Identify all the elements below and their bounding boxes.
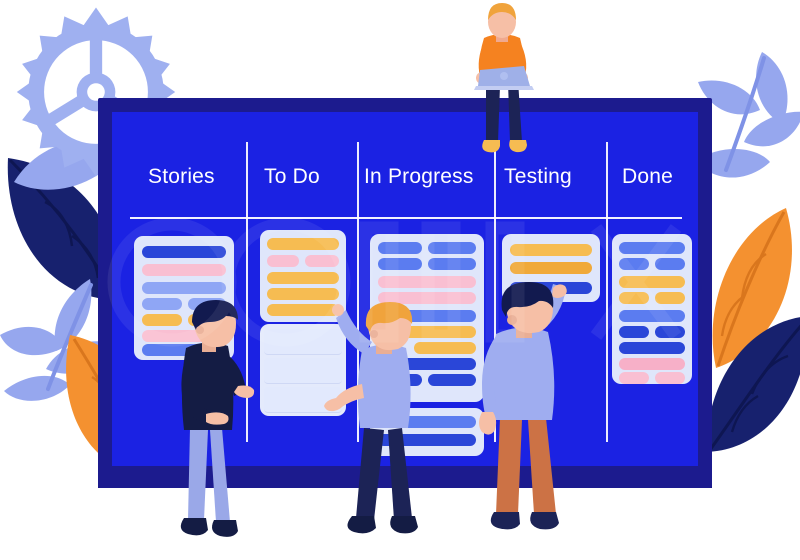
card-bar xyxy=(619,342,685,354)
column-header-testing[interactable]: Testing xyxy=(504,154,572,200)
card-bar xyxy=(655,372,685,384)
card-bar xyxy=(619,242,685,254)
board-column-headers: Stories To Do In Progress Testing Done xyxy=(112,154,698,212)
card-bar xyxy=(619,372,649,384)
card-bar xyxy=(142,264,226,276)
card-bar xyxy=(142,282,226,294)
card-bar xyxy=(267,288,339,300)
card-bar xyxy=(510,244,592,256)
column-divider-4 xyxy=(606,142,608,442)
card-bar xyxy=(378,258,422,270)
blank-row xyxy=(264,358,342,384)
card-bar xyxy=(267,304,339,316)
card-bar xyxy=(655,326,685,338)
leaf-navy-right xyxy=(700,310,800,460)
column-header-todo[interactable]: To Do xyxy=(264,154,320,200)
card-done[interactable] xyxy=(612,234,692,384)
card-bar xyxy=(428,242,476,254)
card-bar xyxy=(619,258,649,270)
column-header-stories[interactable]: Stories xyxy=(148,154,215,200)
card-bar xyxy=(655,258,685,270)
card-bar xyxy=(267,255,299,267)
leaf-orange-right xyxy=(700,200,800,375)
card-bar xyxy=(619,276,685,288)
person-carrier-left xyxy=(166,300,262,548)
card-bar xyxy=(142,246,226,258)
card-bar xyxy=(619,292,649,304)
blank-row xyxy=(264,329,342,355)
card-bar xyxy=(267,272,339,284)
card-bar xyxy=(619,310,685,322)
person-sitter-laptop xyxy=(452,2,552,152)
card-bar xyxy=(510,262,592,274)
card-bar xyxy=(378,276,476,288)
card-bar xyxy=(378,242,422,254)
column-header-done[interactable]: Done xyxy=(622,154,673,200)
card-bar xyxy=(655,292,685,304)
card-bar xyxy=(305,255,339,267)
card-bar xyxy=(267,238,339,250)
person-carrier-right xyxy=(336,302,440,550)
illustration-canvas: Stories To Do In Progress Testing Done xyxy=(0,0,800,560)
header-underline xyxy=(130,217,682,219)
person-reacher xyxy=(474,282,580,548)
column-header-in-progress[interactable]: In Progress xyxy=(364,154,474,200)
card-bar xyxy=(619,326,649,338)
card-bar xyxy=(619,358,685,370)
card-bar xyxy=(428,258,476,270)
